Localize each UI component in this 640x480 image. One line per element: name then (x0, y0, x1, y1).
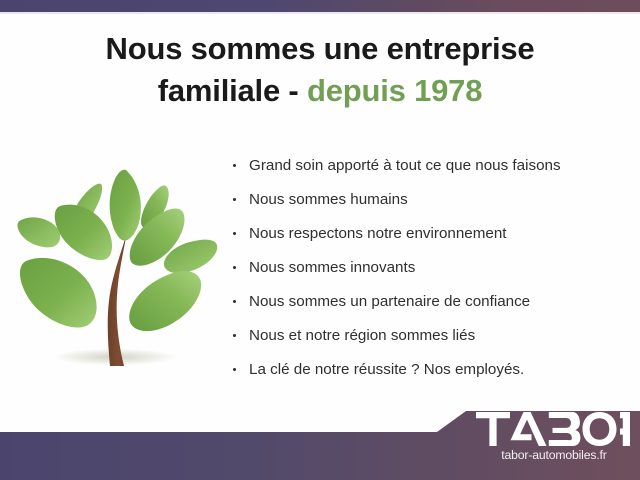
list-item: Nous sommes humains (228, 183, 628, 217)
headline-accent-year: depuis 1978 (307, 73, 482, 108)
bullet-dot-icon (233, 198, 236, 201)
bullet-dot-icon (233, 334, 236, 337)
list-item-label: Nous sommes innovants (249, 259, 415, 276)
list-item: Nous et notre région sommes liés (228, 319, 628, 353)
list-item: Nous respectons notre environnement (228, 217, 628, 251)
list-item-label: Nous et notre région sommes liés (249, 327, 475, 344)
list-item-label: Nous sommes humains (249, 191, 408, 208)
list-item: Nous sommes innovants (228, 251, 628, 285)
tree-leaf (110, 170, 141, 241)
bullet-dot-icon (233, 164, 236, 167)
page-title: Nous sommes une entreprise familiale - d… (0, 28, 640, 112)
bullet-dot-icon (233, 266, 236, 269)
list-item-label: Nous sommes un partenaire de confiance (249, 293, 530, 310)
list-item-label: La clé de notre réussite ? Nos employés. (249, 361, 524, 378)
top-accent-hairline (0, 12, 640, 14)
footer-bar-shape (0, 411, 640, 480)
list-item: Grand soin apporté à tout ce que nous fa… (228, 149, 628, 183)
tree-leaf (17, 217, 60, 247)
bullet-dot-icon (233, 300, 236, 303)
headline-line-2-prefix: familiale - (158, 73, 307, 108)
tree-illustration (14, 148, 219, 393)
headline-line-1: Nous sommes une entreprise (0, 28, 640, 70)
slide-canvas: Nous sommes une entreprise familiale - d… (0, 0, 640, 480)
list-item-label: Nous respectons notre environnement (249, 225, 507, 242)
tree-leaf (20, 258, 97, 328)
headline-line-2: familiale - depuis 1978 (0, 70, 640, 112)
tree-leaf (55, 205, 112, 260)
list-item-label: Grand soin apporté à tout ce que nous fa… (249, 157, 561, 174)
list-item: La clé de notre réussite ? Nos employés. (228, 353, 628, 387)
footer-bar (0, 405, 640, 480)
top-accent-bar (0, 0, 640, 12)
value-bullet-list: Grand soin apporté à tout ce que nous fa… (228, 149, 628, 387)
tree-leaf (129, 271, 201, 331)
bullet-dot-icon (233, 232, 236, 235)
list-item: Nous sommes un partenaire de confiance (228, 285, 628, 319)
bullet-dot-icon (233, 368, 236, 371)
